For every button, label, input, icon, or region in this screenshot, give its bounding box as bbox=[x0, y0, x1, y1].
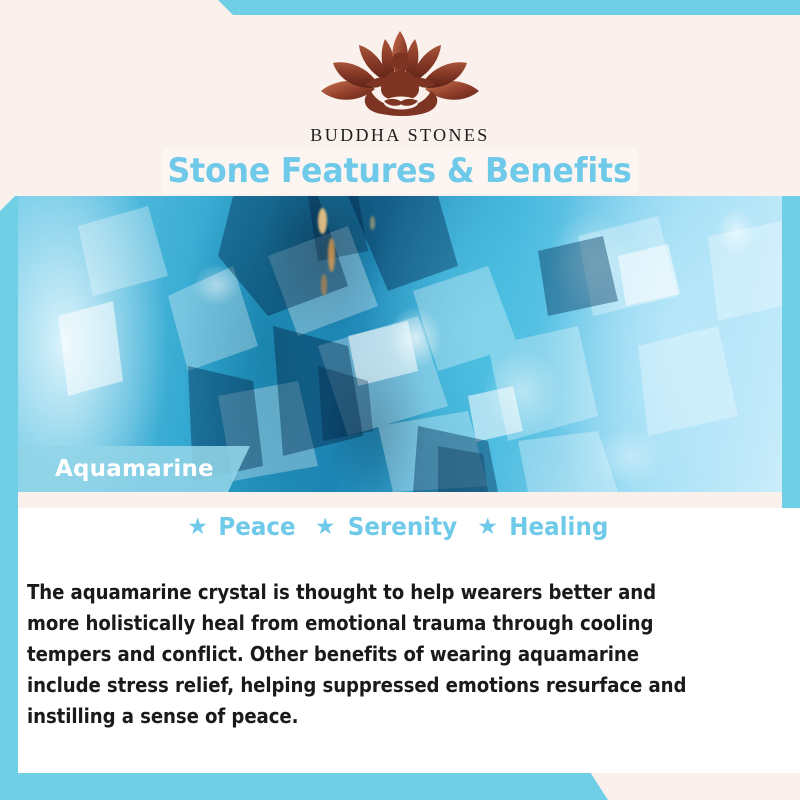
hero-image: Aquamarine bbox=[18, 196, 782, 492]
feature-label-peace: Peace bbox=[218, 512, 295, 541]
description-text: The aquamarine crystal is thought to hel… bbox=[27, 577, 693, 732]
stone-name: Aquamarine bbox=[55, 456, 214, 482]
star-icon: ★ bbox=[477, 515, 498, 538]
star-icon: ★ bbox=[315, 515, 336, 538]
lotus-meditation-icon bbox=[315, 29, 485, 121]
feature-list: ★ Peace ★ Serenity ★ Healing bbox=[18, 512, 782, 541]
feature-item-healing: ★ Healing bbox=[477, 512, 612, 541]
decorative-bottom-bar bbox=[0, 772, 608, 800]
feature-label-healing: Healing bbox=[509, 512, 608, 541]
brand-name: BUDDHA STONES bbox=[310, 125, 489, 146]
star-icon: ★ bbox=[187, 515, 208, 538]
brand-logo: BUDDHA STONES bbox=[310, 29, 489, 146]
feature-item-peace: ★ Peace bbox=[187, 512, 299, 541]
stone-benefits-poster: BUDDHA STONES Stone Features & Benefits bbox=[0, 0, 800, 800]
photo-gap-strip bbox=[18, 492, 782, 508]
title-banner: Stone Features & Benefits bbox=[163, 148, 637, 194]
page-title: Stone Features & Benefits bbox=[168, 151, 632, 191]
poster-header: BUDDHA STONES Stone Features & Benefits bbox=[0, 15, 800, 196]
decorative-left-bar bbox=[0, 193, 18, 800]
decorative-top-bar bbox=[0, 0, 800, 15]
feature-label-serenity: Serenity bbox=[347, 512, 456, 541]
feature-item-serenity: ★ Serenity bbox=[315, 512, 462, 541]
stone-name-ribbon: Aquamarine bbox=[18, 446, 250, 492]
